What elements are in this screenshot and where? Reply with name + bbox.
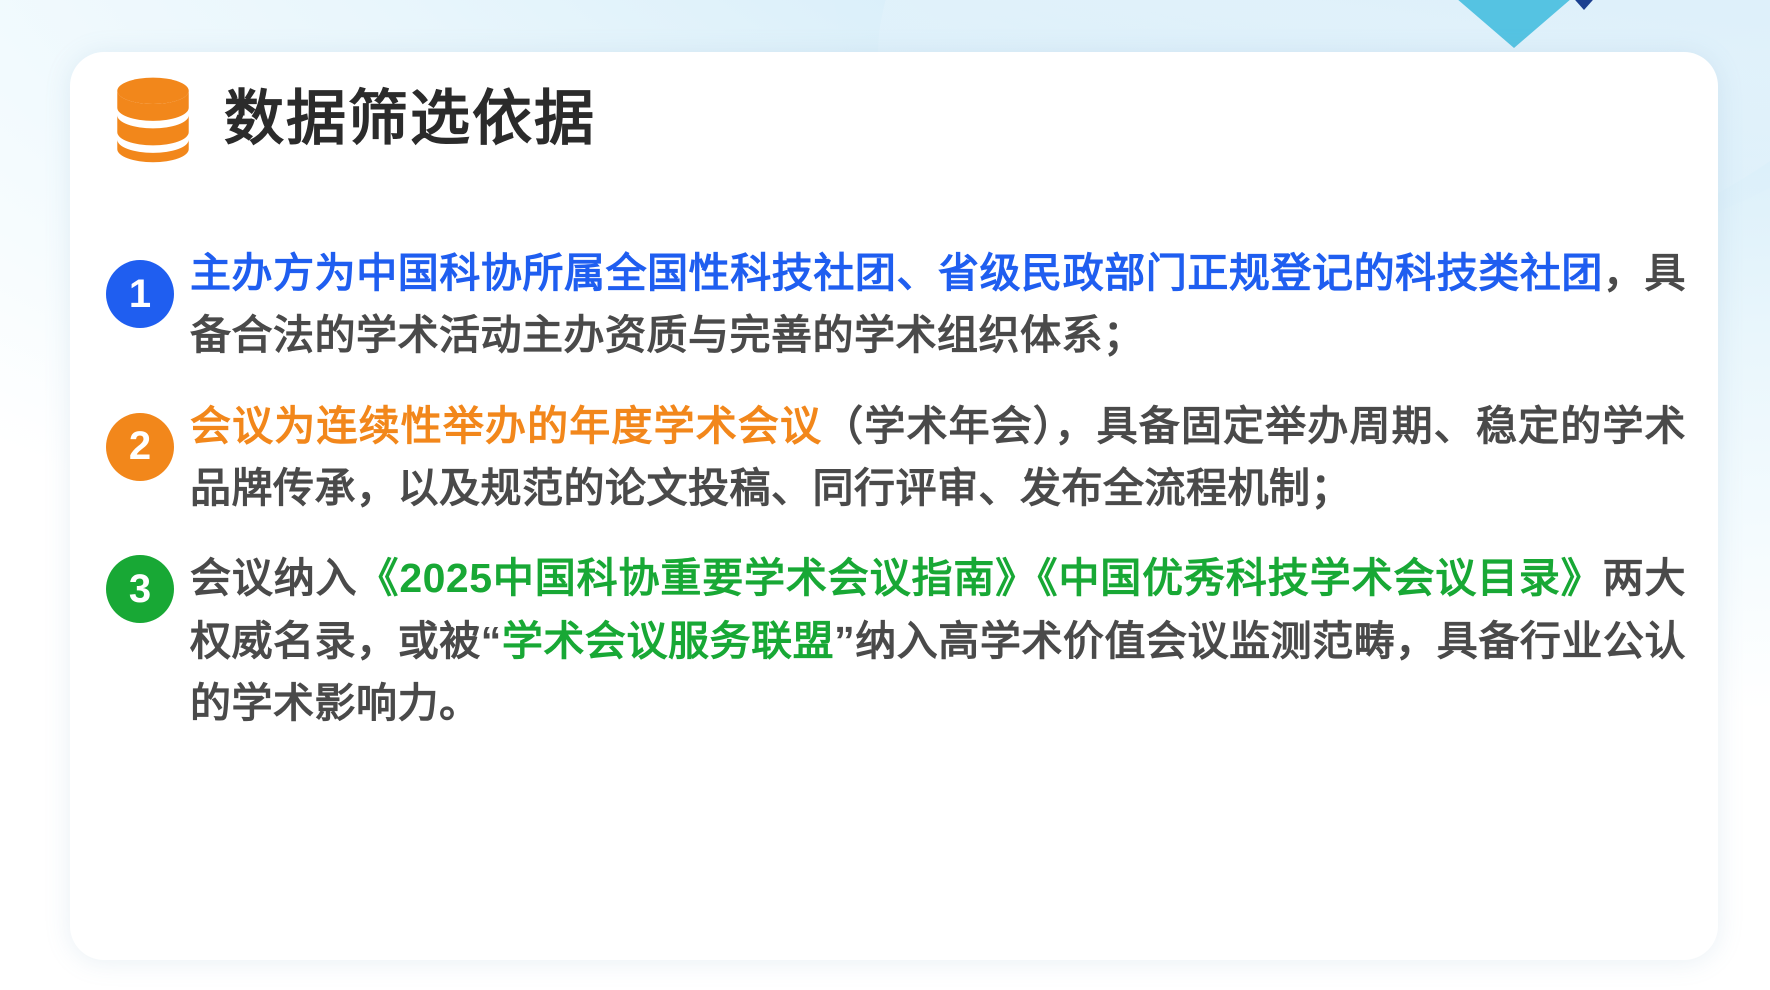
slide-root: 数据筛选依据 1 主办方为中国科协所属全国性科技社团、省级民政部门正规登记的科技… [0,0,1770,990]
item-text-2: 会议为连续性举办的年度学术会议（学术年会），具备固定举办周期、稳定的学术品牌传承… [190,395,1686,520]
list-item: 3 会议纳入《2025中国科协重要学术会议指南》《中国优秀科技学术会议目录》两大… [106,547,1686,734]
item-number-badge-2: 2 [106,413,174,481]
item-number-badge-1: 1 [106,260,174,328]
item-3-segment-1: 会议纳入 [190,555,357,601]
database-icon [106,72,200,166]
item-3-segment-4: 学术会议服务联盟 [502,618,834,664]
triangle-small-icon [1568,0,1600,10]
item-number-badge-3: 3 [106,555,174,623]
item-1-segment-1: 主办方为中国科协所属全国性科技社团、省级民政部门正规登记的科技类社团 [190,250,1603,296]
triangle-large-icon [1442,0,1586,48]
item-text-3: 会议纳入《2025中国科协重要学术会议指南》《中国优秀科技学术会议目录》两大权威… [190,547,1686,734]
page-title: 数据筛选依据 [224,89,596,149]
item-3-segment-2: 《2025中国科协重要学术会议指南》《中国优秀科技学术会议目录》 [357,555,1602,601]
criteria-list: 1 主办方为中国科协所属全国性科技社团、省级民政部门正规登记的科技类社团，具备合… [106,202,1686,762]
item-text-1: 主办方为中国科协所属全国性科技社团、省级民政部门正规登记的科技类社团，具备合法的… [190,202,1686,367]
item-2-segment-1: 会议为连续性举办的年度学术会议 [190,403,822,449]
card-header: 数据筛选依据 [106,72,596,166]
content-card: 数据筛选依据 1 主办方为中国科协所属全国性科技社团、省级民政部门正规登记的科技… [70,52,1718,960]
list-item: 1 主办方为中国科协所属全国性科技社团、省级民政部门正规登记的科技类社团，具备合… [106,202,1686,367]
list-item: 2 会议为连续性举办的年度学术会议（学术年会），具备固定举办周期、稳定的学术品牌… [106,395,1686,520]
